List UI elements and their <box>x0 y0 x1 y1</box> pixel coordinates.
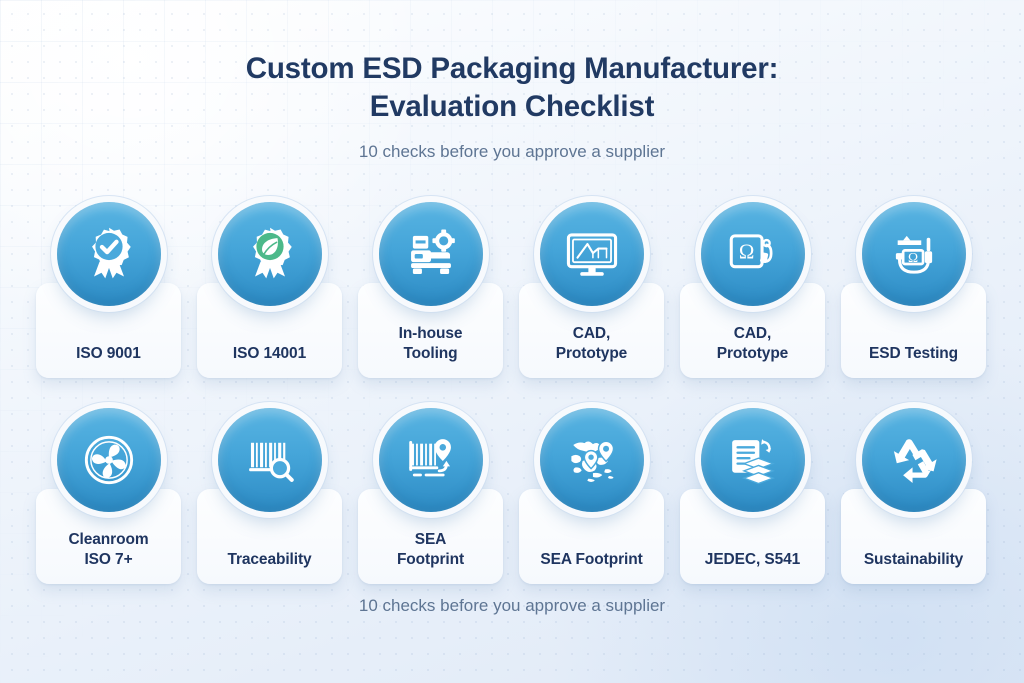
checklist-item-traceability[interactable]: Traceability <box>197 402 342 584</box>
card-label-line-2: Footprint <box>397 551 464 568</box>
card-label: CAD, Prototype <box>550 324 633 364</box>
barcode-location-pin-icon <box>379 408 483 512</box>
card-label-line-2: ISO 7+ <box>84 551 132 568</box>
card-label: CAD, Prototype <box>711 324 794 364</box>
checklist-item-cleanroom[interactable]: Cleanroom ISO 7+ <box>36 402 181 584</box>
card-label-line-1: Cleanroom <box>68 531 148 548</box>
card-label-line-2: Prototype <box>717 345 788 362</box>
checklist-item-in-house-tooling[interactable]: In-house Tooling <box>358 196 503 378</box>
card-label-line-1: In-house <box>399 325 463 342</box>
card-label-line-1: CAD, <box>734 325 772 342</box>
checklist-item-esd-testing[interactable]: Ω ESD Testing <box>841 196 986 378</box>
eco-badge-leaf-icon <box>218 202 322 306</box>
card-label-line-1: CAD, <box>573 325 611 342</box>
page-title-line-2: Evaluation Checklist <box>370 90 655 123</box>
card-label-line-2: Prototype <box>556 345 627 362</box>
checklist-item-sustainability[interactable]: Sustainability <box>841 402 986 584</box>
footer-note: 10 checks before you approve a supplier <box>0 595 1024 617</box>
page-title: Custom ESD Packaging Manufacturer: Evalu… <box>0 50 1024 126</box>
checklist-item-sea-footprint-map[interactable]: SEA Footprint <box>519 402 664 584</box>
card-label: SEA Footprint <box>534 550 648 570</box>
recycle-icon <box>862 408 966 512</box>
checklist-grid: ISO 9001 <box>36 196 988 608</box>
checklist-item-cad-prototype-monitor[interactable]: CAD, Prototype <box>519 196 664 378</box>
ohmmeter-icon: Ω <box>701 202 805 306</box>
checklist-item-iso-14001[interactable]: ISO 14001 <box>197 196 342 378</box>
cleanroom-fan-icon <box>57 408 161 512</box>
page-title-line-1: Custom ESD Packaging Manufacturer: <box>246 52 779 85</box>
card-label: ESD Testing <box>863 344 964 364</box>
tooling-machine-gear-icon <box>379 202 483 306</box>
card-label: ISO 9001 <box>70 344 147 364</box>
checklist-row-2: Cleanroom ISO 7+ <box>36 402 988 584</box>
checklist-item-cad-prototype-ohmmeter[interactable]: Ω CAD, Prototype <box>680 196 825 378</box>
card-label: In-house Tooling <box>393 324 469 364</box>
checklist-item-jedec-s541[interactable]: JEDEC, S541 <box>680 402 825 584</box>
card-label-line-2: Tooling <box>403 345 457 362</box>
card-label: JEDEC, S541 <box>699 550 806 570</box>
checklist-item-iso-9001[interactable]: ISO 9001 <box>36 196 181 378</box>
cad-monitor-icon <box>540 202 644 306</box>
svg-text:Ω: Ω <box>738 240 753 264</box>
header: Custom ESD Packaging Manufacturer: Evalu… <box>0 50 1024 163</box>
card-label: Traceability <box>221 550 317 570</box>
infographic-canvas: Custom ESD Packaging Manufacturer: Evalu… <box>0 0 1024 683</box>
card-label-line-1: SEA <box>415 531 447 548</box>
card-label: ISO 14001 <box>227 344 312 364</box>
documents-standards-icon <box>701 408 805 512</box>
page-subtitle: 10 checks before you approve a supplier <box>0 141 1024 163</box>
card-label: Cleanroom ISO 7+ <box>62 530 154 570</box>
card-label: Sustainability <box>858 550 969 570</box>
quality-badge-check-icon <box>57 202 161 306</box>
sea-map-pins-icon <box>540 408 644 512</box>
esd-test-probe-icon: Ω <box>862 202 966 306</box>
checklist-item-sea-footprint-barcode[interactable]: SEA Footprint <box>358 402 503 584</box>
svg-text:Ω: Ω <box>908 250 918 265</box>
card-label: SEA Footprint <box>391 530 470 570</box>
checklist-row-1: ISO 9001 <box>36 196 988 378</box>
barcode-magnifier-icon <box>218 408 322 512</box>
